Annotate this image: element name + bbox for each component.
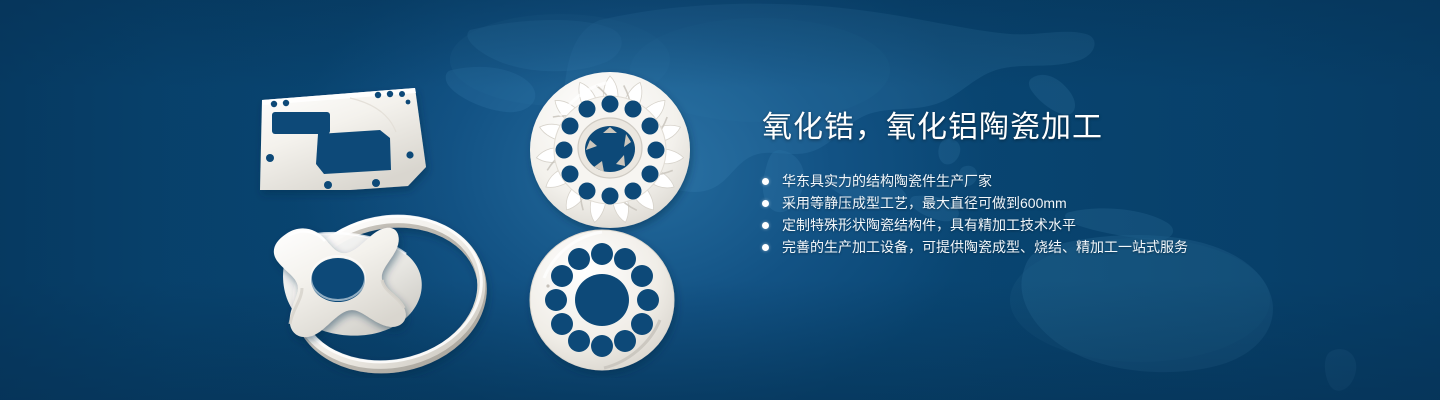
list-item-label: 完善的生产加工设备，可提供陶瓷成型、烧结、精加工一站式服务 <box>782 236 1188 258</box>
products-svg <box>230 38 720 378</box>
list-item: 定制特殊形状陶瓷结构件，具有精加工技术水平 <box>762 214 1382 236</box>
ceramic-plate <box>260 88 426 190</box>
list-item-label: 定制特殊形状陶瓷结构件，具有精加工技术水平 <box>782 214 1076 236</box>
headline: 氧化锆，氧化铝陶瓷加工 <box>762 108 1382 148</box>
list-item: 采用等静压成型工艺，最大直径可做到600mm <box>762 192 1382 214</box>
bullet-icon <box>762 200 769 207</box>
ceramic-perforated-disc <box>530 230 674 370</box>
ceramic-impeller <box>530 72 690 228</box>
feature-list: 华东具实力的结构陶瓷件生产厂家 采用等静压成型工艺，最大直径可做到600mm 定… <box>762 170 1382 258</box>
product-photo-group <box>230 38 720 378</box>
list-item-label: 华东具实力的结构陶瓷件生产厂家 <box>782 170 992 192</box>
bullet-icon <box>762 244 769 251</box>
list-item: 华东具实力的结构陶瓷件生产厂家 <box>762 170 1382 192</box>
banner-copy: 氧化锆，氧化铝陶瓷加工 华东具实力的结构陶瓷件生产厂家 采用等静压成型工艺，最大… <box>762 108 1382 258</box>
promo-banner: 氧化锆，氧化铝陶瓷加工 华东具实力的结构陶瓷件生产厂家 采用等静压成型工艺，最大… <box>0 0 1440 400</box>
bullet-icon <box>762 222 769 229</box>
list-item: 完善的生产加工设备，可提供陶瓷成型、烧结、精加工一站式服务 <box>762 236 1382 258</box>
bullet-icon <box>762 178 769 185</box>
list-item-label: 采用等静压成型工艺，最大直径可做到600mm <box>782 192 1067 214</box>
